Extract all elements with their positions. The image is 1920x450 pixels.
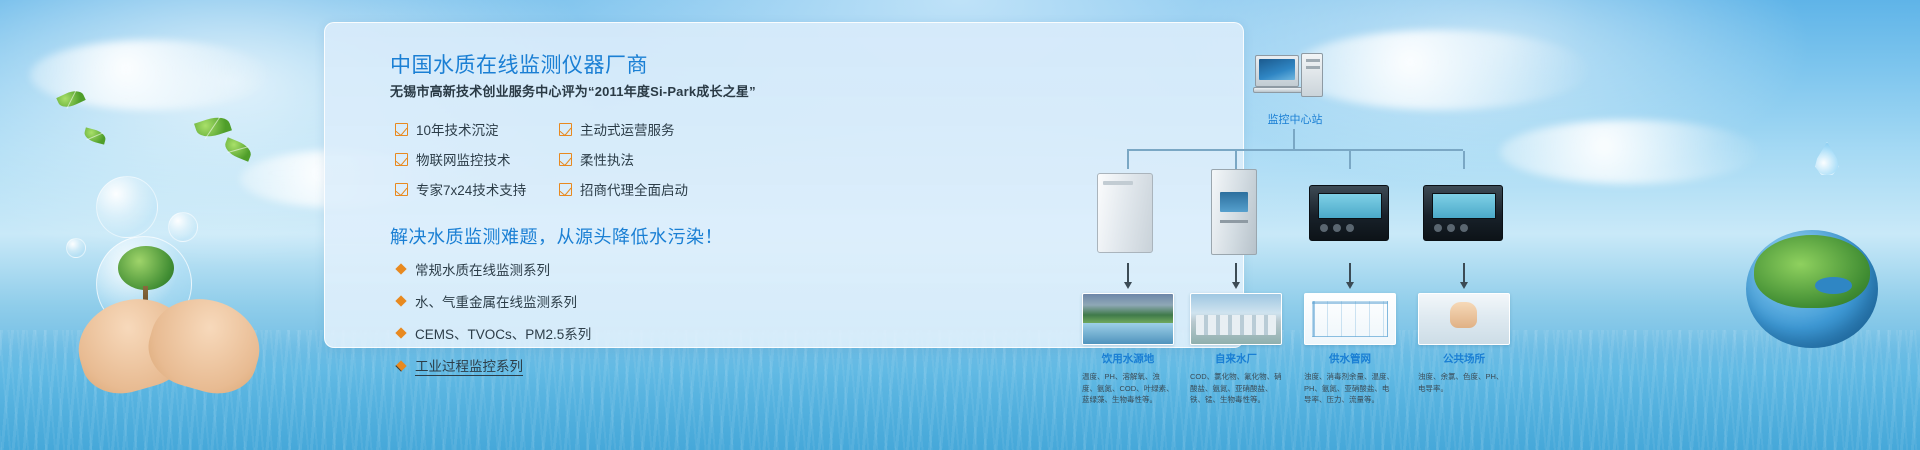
device-body xyxy=(1211,169,1257,255)
product-series-list: 常规水质在线监测系列 水、气重金属在线监测系列 CEMS、TVOCs、PM2.5… xyxy=(397,259,591,388)
feature-item: 专家7x24技术支持 xyxy=(395,179,537,199)
scenario-thumbnail xyxy=(1418,293,1510,345)
diamond-bullet-icon xyxy=(395,327,406,338)
diamond-bullet-icon xyxy=(395,263,406,274)
feature-label: 10年技术沉淀 xyxy=(416,119,499,139)
list-item-label: 常规水质在线监测系列 xyxy=(415,259,550,279)
scenario-description: 温度、PH、溶解氧、浊度、氨氮、COD、叶绿素、蓝绿藻、生物毒性等。 xyxy=(1082,371,1174,406)
feature-label: 专家7x24技术支持 xyxy=(416,179,526,199)
connector-drop xyxy=(1349,151,1351,169)
globe-lake xyxy=(1815,277,1852,294)
feature-item: 10年技术沉淀 xyxy=(395,119,537,139)
system-diagram: 监控中心站 xyxy=(1065,49,1535,369)
checkbox-icon xyxy=(395,183,408,196)
leaf-decoration xyxy=(83,127,107,144)
list-item[interactable]: 常规水质在线监测系列 xyxy=(397,259,591,279)
device-body xyxy=(1097,173,1153,253)
section-heading: 解决水质监测难题，从源头降低水污染！ xyxy=(390,223,723,249)
monitoring-center-computer-icon xyxy=(1255,53,1327,101)
scenario-card[interactable]: 供水管网 浊度、消毒剂余量、温度、PH、氨氮、亚硝酸盐、电导率、压力、流量等。 xyxy=(1304,293,1396,406)
scenario-thumbnail xyxy=(1304,293,1396,345)
scenario-card[interactable]: 自来水厂 COD、氯化物、氟化物、硝酸盐、氨氮、亚硝酸盐、铁、锰、生物毒性等。 xyxy=(1190,293,1282,406)
monitor-screen xyxy=(1259,59,1295,80)
list-item[interactable]: CEMS、TVOCs、PM2.5系列 xyxy=(397,323,591,343)
banner-background: 中国水质在线监测仪器厂商 无锡市高新技术创业服务中心评为“2011年度Si-Pa… xyxy=(0,0,1920,450)
device-lcd xyxy=(1318,193,1382,219)
scenario-description: COD、氯化物、氟化物、硝酸盐、氨氮、亚硝酸盐、铁、锰、生物毒性等。 xyxy=(1190,371,1282,406)
device-body xyxy=(1423,185,1503,241)
list-item[interactable]: 水、气重金属在线监测系列 xyxy=(397,291,591,311)
diamond-bullet-icon xyxy=(395,295,406,306)
pc-tower-icon xyxy=(1301,53,1323,97)
connector-drop xyxy=(1235,151,1237,169)
center-station-label: 监控中心站 xyxy=(1215,111,1375,127)
connector-bus xyxy=(1127,149,1463,151)
device-lcd xyxy=(1432,193,1496,219)
feature-label: 柔性执法 xyxy=(580,149,634,169)
feature-label: 物联网监控技术 xyxy=(416,149,511,169)
checkbox-icon xyxy=(395,123,408,136)
tree-canopy-icon xyxy=(118,246,174,290)
feature-item: 招商代理全面启动 xyxy=(559,179,701,199)
scenario-card[interactable]: 饮用水源地 温度、PH、溶解氧、浊度、氨氮、COD、叶绿素、蓝绿藻、生物毒性等。 xyxy=(1082,293,1174,406)
scenario-card[interactable]: 公共场所 浊度、余氯、色度、PH、电导率。 xyxy=(1418,293,1510,394)
water-drop-icon xyxy=(1814,142,1840,176)
device-controller-icon xyxy=(1303,169,1395,259)
device-buttons xyxy=(1434,224,1468,232)
diamond-bullet-icon xyxy=(395,360,406,371)
device-rack-icon xyxy=(1191,169,1283,259)
checkbox-icon xyxy=(559,183,572,196)
scenario-title: 饮用水源地 xyxy=(1082,351,1174,366)
connector-drop xyxy=(1463,151,1465,169)
connector-drop xyxy=(1127,151,1129,169)
page-title: 中国水质在线监测仪器厂商 xyxy=(390,49,648,79)
flow-arrow-icon xyxy=(1349,263,1351,283)
feature-list: 10年技术沉淀 主动式运营服务 物联网监控技术 柔性执法 专家7x24技术支持 … xyxy=(395,119,705,199)
list-item-label: CEMS、TVOCs、PM2.5系列 xyxy=(415,323,591,343)
bubble-decoration xyxy=(96,176,158,238)
scenario-thumbnail xyxy=(1082,293,1174,345)
globe-land xyxy=(1754,235,1870,308)
scenario-title: 自来水厂 xyxy=(1190,351,1282,366)
checkbox-icon xyxy=(559,123,572,136)
list-item-label: 工业过程监控系列 xyxy=(415,355,523,376)
checkbox-icon xyxy=(395,153,408,166)
device-body xyxy=(1309,185,1389,241)
device-buttons xyxy=(1320,224,1354,232)
feature-item: 物联网监控技术 xyxy=(395,149,537,169)
sea-decoration xyxy=(0,330,1920,450)
scenario-title: 公共场所 xyxy=(1418,351,1510,366)
bubble-decoration xyxy=(168,212,198,242)
device-cabinet-icon xyxy=(1083,169,1175,259)
scenario-description: 浊度、消毒剂余量、温度、PH、氨氮、亚硝酸盐、电导率、压力、流量等。 xyxy=(1304,371,1396,406)
connector-trunk xyxy=(1293,129,1295,151)
feature-label: 主动式运营服务 xyxy=(580,119,675,139)
scenario-description: 浊度、余氯、色度、PH、电导率。 xyxy=(1418,371,1510,394)
device-analyzer-icon xyxy=(1417,169,1509,259)
panel-subtitle: 无锡市高新技术创业服务中心评为“2011年度Si-Park成长之星” xyxy=(390,81,756,100)
leaf-decoration xyxy=(222,137,254,161)
flow-arrow-icon xyxy=(1463,263,1465,283)
flow-arrow-icon xyxy=(1127,263,1129,283)
flow-arrow-icon xyxy=(1235,263,1237,283)
scenario-thumbnail xyxy=(1190,293,1282,345)
globe-illustration xyxy=(1746,230,1878,348)
checkbox-icon xyxy=(559,153,572,166)
cloud-decoration xyxy=(1500,120,1760,184)
scenario-title: 供水管网 xyxy=(1304,351,1396,366)
feature-item: 主动式运营服务 xyxy=(559,119,701,139)
bubble-decoration xyxy=(66,238,86,258)
info-panel: 中国水质在线监测仪器厂商 无锡市高新技术创业服务中心评为“2011年度Si-Pa… xyxy=(324,22,1244,348)
list-item-label: 水、气重金属在线监测系列 xyxy=(415,291,577,311)
monitor-icon xyxy=(1255,55,1299,87)
list-item[interactable]: 工业过程监控系列 xyxy=(397,355,591,376)
keyboard-icon xyxy=(1253,87,1303,93)
feature-label: 招商代理全面启动 xyxy=(580,179,688,199)
feature-item: 柔性执法 xyxy=(559,149,701,169)
leaf-decoration xyxy=(194,113,232,141)
